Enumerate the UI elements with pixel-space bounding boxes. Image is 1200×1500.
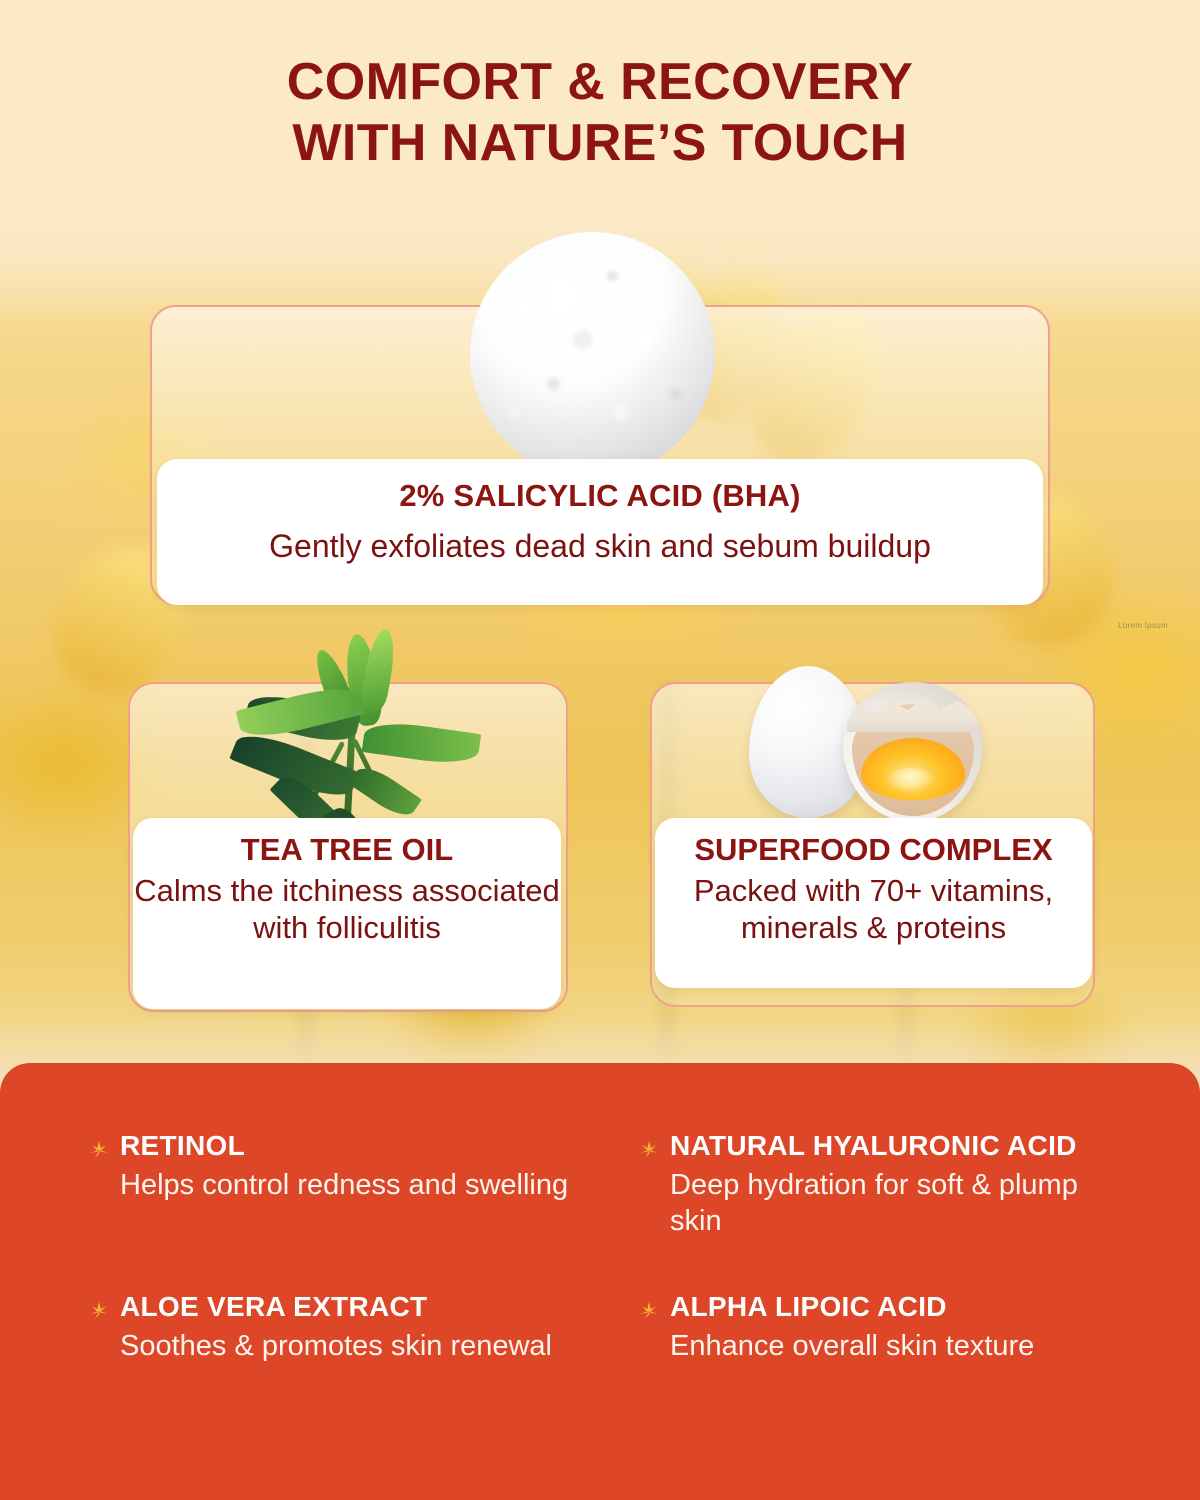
sprig-leaf xyxy=(348,760,422,822)
page-title: COMFORT & RECOVERY WITH NATURE’S TOUCH xyxy=(0,52,1200,175)
sparkle-leaf-icon xyxy=(636,1292,670,1365)
benefit-item: NATURAL HYALURONIC ACID Deep hydration f… xyxy=(636,1131,1126,1240)
egg-yolk-highlight xyxy=(887,768,933,792)
benefit-description: Deep hydration for soft & plump skin xyxy=(670,1168,1126,1240)
ingredient-description: Gently exfoliates dead skin and sebum bu… xyxy=(157,528,1043,565)
sparkle-leaf-icon xyxy=(86,1131,120,1240)
page-title-line-2: WITH NATURE’S TOUCH xyxy=(0,113,1200,174)
benefit-title: ALPHA LIPOIC ACID xyxy=(670,1292,1126,1323)
benefit-title: RETINOL xyxy=(120,1131,576,1162)
ingredient-title: SUPERFOOD COMPLEX xyxy=(655,832,1092,868)
benefit-item: ALPHA LIPOIC ACID Enhance overall skin t… xyxy=(636,1292,1126,1365)
infographic-poster: COMFORT & RECOVERY WITH NATURE’S TOUCH 2… xyxy=(0,0,1200,1500)
benefit-description: Helps control redness and swelling xyxy=(120,1168,576,1204)
benefit-body: ALOE VERA EXTRACT Soothes & promotes ski… xyxy=(120,1292,576,1365)
ingredient-label-tea-tree-oil: TEA TREE OIL Calms the itchiness associa… xyxy=(133,818,561,1009)
white-powder-icon xyxy=(470,232,715,477)
ingredient-description: Calms the itchiness associated with foll… xyxy=(133,872,561,946)
benefit-description: Enhance overall skin texture xyxy=(670,1329,1126,1365)
page-title-line-1: COMFORT & RECOVERY xyxy=(287,53,913,111)
cracked-egg-icon xyxy=(735,648,1005,838)
benefit-body: NATURAL HYALURONIC ACID Deep hydration f… xyxy=(670,1131,1126,1240)
sprig-leaf xyxy=(362,718,482,768)
ingredient-title: TEA TREE OIL xyxy=(133,832,561,868)
benefits-grid: RETINOL Helps control redness and swelli… xyxy=(86,1131,1126,1364)
cracked-egg-shell-shape xyxy=(843,682,983,822)
benefits-panel: RETINOL Helps control redness and swelli… xyxy=(0,1063,1200,1500)
sparkle-leaf-icon xyxy=(636,1131,670,1240)
ingredient-label-superfood-complex: SUPERFOOD COMPLEX Packed with 70+ vitami… xyxy=(655,818,1092,988)
ingredient-description: Packed with 70+ vitamins, minerals & pro… xyxy=(655,872,1092,946)
egg-shell-jagged-rim xyxy=(847,692,979,732)
ingredient-label-salicylic-acid: 2% SALICYLIC ACID (BHA) Gently exfoliate… xyxy=(157,459,1043,605)
benefit-item: ALOE VERA EXTRACT Soothes & promotes ski… xyxy=(86,1292,576,1365)
sparkle-leaf-icon xyxy=(86,1292,120,1365)
ingredient-title: 2% SALICYLIC ACID (BHA) xyxy=(157,478,1043,514)
benefit-description: Soothes & promotes skin renewal xyxy=(120,1329,576,1365)
benefit-body: ALPHA LIPOIC ACID Enhance overall skin t… xyxy=(670,1292,1126,1365)
watermark-text: Lorem Ipsum xyxy=(1118,621,1168,630)
powder-shading xyxy=(470,232,715,477)
benefit-body: RETINOL Helps control redness and swelli… xyxy=(120,1131,576,1240)
benefit-title: ALOE VERA EXTRACT xyxy=(120,1292,576,1323)
benefit-item: RETINOL Helps control redness and swelli… xyxy=(86,1131,576,1240)
benefit-title: NATURAL HYALURONIC ACID xyxy=(670,1131,1126,1162)
